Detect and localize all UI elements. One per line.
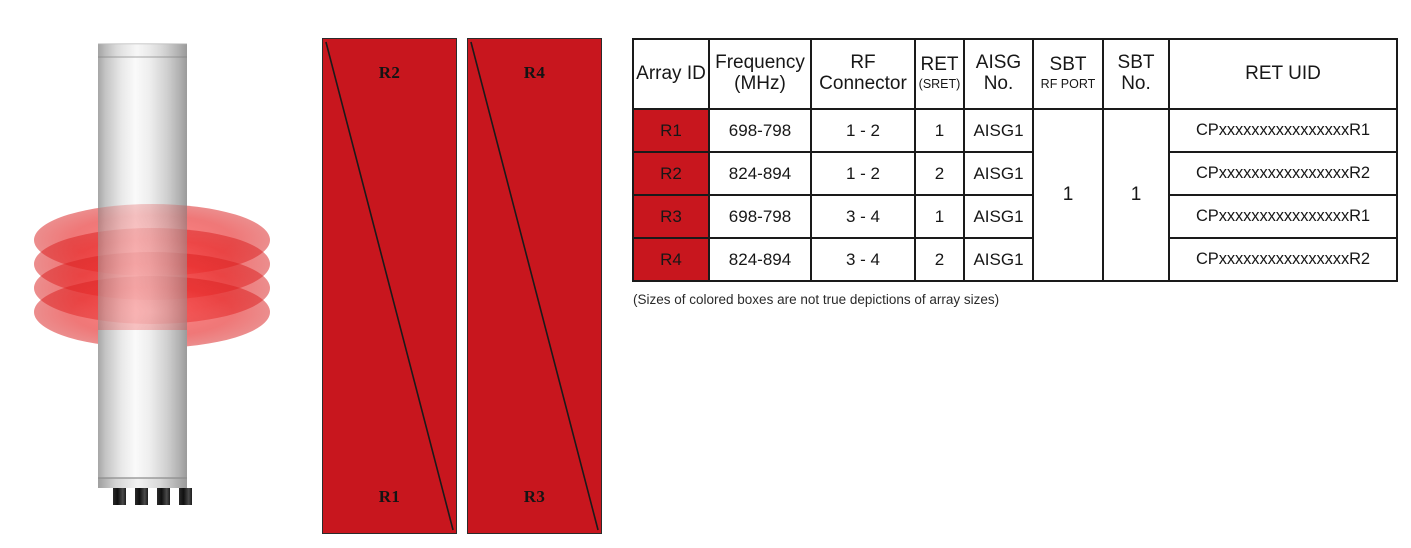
array-panel-right-bottom-label: R3 xyxy=(468,487,601,507)
connector-port-3 xyxy=(157,488,170,505)
header-frequency-line1: Frequency xyxy=(715,52,805,73)
cell-ret-uid: CPxxxxxxxxxxxxxxxxR2 xyxy=(1169,238,1397,281)
array-configuration-table: Array ID Frequency (MHz) RF Connector RE… xyxy=(632,38,1398,282)
cell-ret: 2 xyxy=(915,238,964,281)
array-panel-left-top-label: R2 xyxy=(323,63,456,83)
header-sbt-no-line1: SBT xyxy=(1118,52,1155,73)
table-row: R1 698-798 1 - 2 1 AISG1 1 1 CPxxxxxxxxx… xyxy=(633,109,1397,152)
cell-ret-uid: CPxxxxxxxxxxxxxxxxR1 xyxy=(1169,109,1397,152)
header-aisg-line2: No. xyxy=(965,74,1032,95)
array-panels-group: R2 R1 R4 R3 xyxy=(322,38,622,534)
header-ret-uid-text: RET UID xyxy=(1245,63,1321,84)
header-sbt-rf-port: SBT RF PORT xyxy=(1033,39,1103,109)
array-panel-left: R2 R1 xyxy=(322,38,457,534)
array-table-body: R1 698-798 1 - 2 1 AISG1 1 1 CPxxxxxxxxx… xyxy=(633,109,1397,281)
antenna-base-plate xyxy=(98,478,187,488)
cell-ret: 1 xyxy=(915,109,964,152)
cell-frequency: 698-798 xyxy=(709,109,811,152)
cell-rf-connector: 1 - 2 xyxy=(811,152,915,195)
array-panel-right-diagonal xyxy=(468,39,601,533)
header-sbt-no: SBT No. xyxy=(1103,39,1169,109)
cell-array-id: R2 xyxy=(633,152,709,195)
cell-aisg: AISG1 xyxy=(964,152,1033,195)
cell-aisg: AISG1 xyxy=(964,109,1033,152)
table-header-row: Array ID Frequency (MHz) RF Connector RE… xyxy=(633,39,1397,109)
connector-port-1 xyxy=(113,488,126,505)
cell-rf-connector: 3 - 4 xyxy=(811,238,915,281)
cell-frequency: 824-894 xyxy=(709,238,811,281)
header-frequency-line2: (MHz) xyxy=(710,74,810,95)
table-row: R3 698-798 3 - 4 1 AISG1 CPxxxxxxxxxxxxx… xyxy=(633,195,1397,238)
array-panel-left-bottom-label: R1 xyxy=(323,487,456,507)
cell-aisg: AISG1 xyxy=(964,238,1033,281)
header-sbt-rf-port-line2: RF PORT xyxy=(1034,77,1102,93)
header-array-id: Array ID xyxy=(633,39,709,109)
antenna-connector-ports xyxy=(113,488,192,505)
array-panel-right: R4 R3 xyxy=(467,38,602,534)
array-configuration-table-wrap: Array ID Frequency (MHz) RF Connector RE… xyxy=(632,38,1396,282)
header-sbt-no-line2: No. xyxy=(1104,74,1168,95)
array-panel-right-top-label: R4 xyxy=(468,63,601,83)
cell-ret: 2 xyxy=(915,152,964,195)
array-panel-left-diagonal xyxy=(323,39,456,533)
connector-port-2 xyxy=(135,488,148,505)
cell-array-id: R4 xyxy=(633,238,709,281)
cell-ret: 1 xyxy=(915,195,964,238)
header-sbt-rf-port-line1: SBT xyxy=(1050,54,1087,75)
cell-ret-uid: CPxxxxxxxxxxxxxxxxR1 xyxy=(1169,195,1397,238)
table-footnote: (Sizes of colored boxes are not true dep… xyxy=(633,292,999,307)
cell-aisg: AISG1 xyxy=(964,195,1033,238)
cell-ret-uid: CPxxxxxxxxxxxxxxxxR2 xyxy=(1169,152,1397,195)
header-ret-line1: RET xyxy=(921,54,959,75)
header-array-id-text: Array ID xyxy=(636,63,706,84)
header-aisg-no: AISG No. xyxy=(964,39,1033,109)
header-aisg-line1: AISG xyxy=(976,52,1021,73)
cell-array-id: R3 xyxy=(633,195,709,238)
table-row: R2 824-894 1 - 2 2 AISG1 CPxxxxxxxxxxxxx… xyxy=(633,152,1397,195)
cell-array-id: R1 xyxy=(633,109,709,152)
cell-rf-connector: 3 - 4 xyxy=(811,195,915,238)
cell-rf-connector: 1 - 2 xyxy=(811,109,915,152)
array-table-head: Array ID Frequency (MHz) RF Connector RE… xyxy=(633,39,1397,109)
header-rf-connector: RF Connector xyxy=(811,39,915,109)
header-rf-connector-line1: RF xyxy=(850,52,875,73)
connector-port-4 xyxy=(179,488,192,505)
cell-sbt-rf-port-merged: 1 xyxy=(1033,109,1103,281)
cell-frequency: 698-798 xyxy=(709,195,811,238)
header-ret-uid: RET UID xyxy=(1169,39,1397,109)
table-row: R4 824-894 3 - 4 2 AISG1 CPxxxxxxxxxxxxx… xyxy=(633,238,1397,281)
header-rf-connector-line2: Connector xyxy=(812,74,914,95)
antenna-illustration xyxy=(0,0,315,543)
header-ret: RET (SRET) xyxy=(915,39,964,109)
header-frequency: Frequency (MHz) xyxy=(709,39,811,109)
cell-frequency: 824-894 xyxy=(709,152,811,195)
header-ret-line2: (SRET) xyxy=(916,77,963,93)
antenna-illustration-svg xyxy=(0,0,315,543)
cell-sbt-no-merged: 1 xyxy=(1103,109,1169,281)
